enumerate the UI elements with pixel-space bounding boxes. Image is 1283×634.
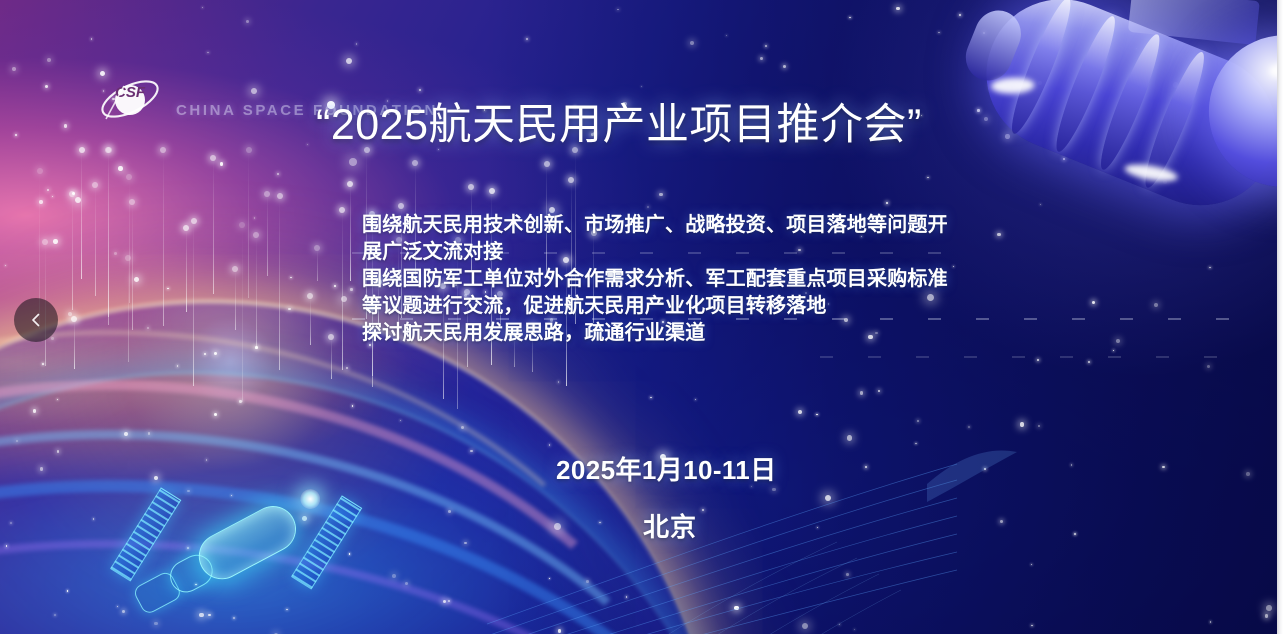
hero-carousel[interactable]: CSF CHINA SPACE FOUNDATION “2025航天民用产业项目…: [0, 0, 1283, 634]
wireframe-satellite-icon: [97, 420, 388, 634]
light-arc: [0, 540, 860, 634]
dashed-decoration-line: [820, 356, 1240, 358]
earth-outer-rim-highlight: [0, 372, 760, 634]
bullet-line: 围绕国防军工单位对外合作需求分析、军工配套重点项目采购标准: [362, 266, 962, 293]
chevron-left-icon: [27, 311, 45, 329]
light-arc: [0, 480, 820, 634]
page-edge-strip: [1277, 0, 1283, 634]
event-city: 北京: [643, 507, 697, 544]
bullet-line: 围绕航天民用技术创新、市场推广、战略投资、项目落地等问题开: [362, 212, 962, 239]
csf-orbit-logo-icon: CSF: [96, 72, 164, 128]
carousel-slide: CSF CHINA SPACE FOUNDATION “2025航天民用产业项目…: [0, 0, 1277, 634]
page-title: “2025航天民用产业项目推介会”: [316, 90, 922, 152]
bullet-line: 探讨航天民用发展思路，疏通行业渠道: [362, 320, 962, 347]
bullet-list: 围绕航天民用技术创新、市场推广、战略投资、项目落地等问题开 展广泛文流对接 围绕…: [362, 212, 962, 347]
bullet-line: 展广泛文流对接: [362, 239, 962, 266]
carousel-prev-button[interactable]: [14, 298, 58, 342]
event-date: 2025年1月10-11日: [556, 450, 777, 487]
light-arc: [0, 380, 740, 634]
bullet-line: 等议题进行交流，促进航天民用产业化项目转移落地: [362, 293, 962, 320]
